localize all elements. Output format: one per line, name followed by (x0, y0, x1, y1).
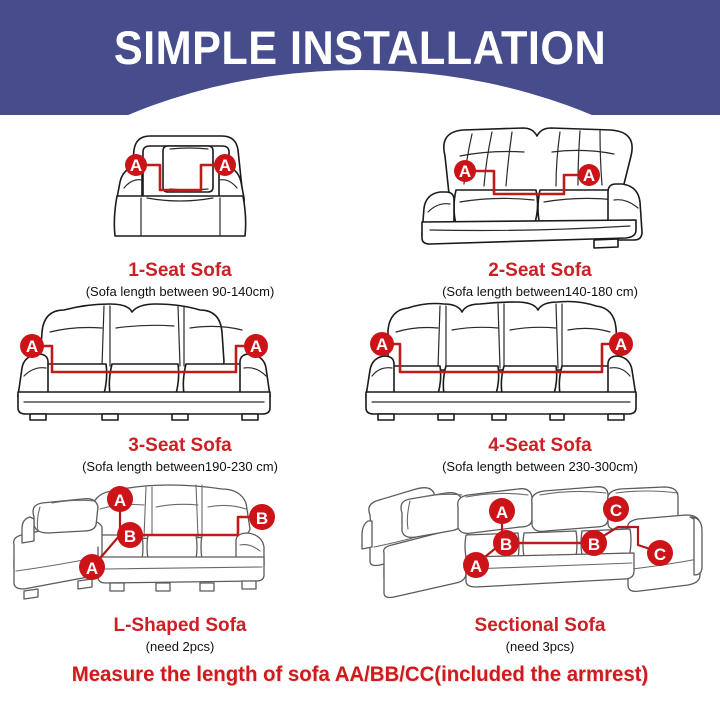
marker-b-left: B (117, 522, 143, 548)
svg-text:A: A (86, 559, 98, 578)
one-seat-sofa-title: 1-Seat Sofa (0, 260, 360, 282)
svg-text:A: A (470, 557, 482, 576)
sectional-sofa-title: Sectional Sofa (360, 615, 720, 637)
marker-c-top: C (603, 496, 629, 522)
header-banner: SIMPLE INSTALLATION (0, 0, 720, 115)
svg-text:A: A (459, 162, 471, 181)
svg-text:B: B (500, 535, 512, 554)
marker-a-bottom: A (463, 552, 489, 578)
l-shaped-sofa-title: L-Shaped Sofa (0, 615, 360, 637)
svg-text:A: A (114, 491, 126, 510)
four-seat-sofa-illustration: A A (360, 298, 720, 433)
sofa-card-two-seat: A A 2-Seat Sofa (Sofa length between140-… (360, 118, 720, 300)
marker-a-left: A (20, 334, 44, 358)
svg-text:A: A (26, 337, 38, 356)
two-seat-sofa-title: 2-Seat Sofa (360, 260, 720, 282)
marker-b-left: B (493, 530, 519, 556)
four-seat-sofa-title: 4-Seat Sofa (360, 435, 720, 457)
banner-curve-decoration (0, 70, 720, 115)
sofa-card-three-seat: A A 3-Seat Sofa (Sofa length between190-… (0, 298, 360, 475)
sofa-card-l-shaped: A A B B L-Shaped Sofa (0, 473, 360, 655)
svg-text:A: A (615, 335, 627, 354)
marker-a-left: A (370, 332, 394, 356)
footer-measure-note: Measure the length of sofa AA/BB/CC(incl… (11, 662, 709, 688)
marker-b-right: B (249, 504, 275, 530)
svg-text:A: A (583, 166, 595, 185)
sofa-card-one-seat: A A 1-Seat Sofa (Sofa length between 90-… (0, 118, 360, 300)
marker-a-right: A (244, 334, 268, 358)
svg-text:A: A (496, 503, 508, 522)
three-seat-sofa-title: 3-Seat Sofa (0, 435, 360, 457)
svg-text:B: B (124, 527, 136, 546)
one-seat-sofa-illustration: A A (0, 118, 360, 258)
svg-text:A: A (250, 337, 262, 356)
marker-c-bottom: C (647, 540, 673, 566)
svg-text:A: A (130, 156, 142, 175)
sofa-card-four-seat: A A 4-Seat Sofa (Sofa length between 230… (360, 298, 720, 475)
marker-a-top: A (107, 486, 133, 512)
sectional-sofa-subtitle: (need 3pcs) (360, 639, 720, 655)
three-seat-sofa-illustration: A A (0, 298, 360, 433)
svg-text:B: B (588, 535, 600, 554)
svg-text:B: B (256, 509, 268, 528)
marker-a-left: A (454, 160, 476, 182)
svg-text:A: A (219, 156, 231, 175)
svg-text:C: C (654, 545, 666, 564)
svg-text:A: A (376, 335, 388, 354)
two-seat-sofa-illustration: A A (360, 118, 720, 258)
marker-a-right: A (214, 154, 236, 176)
marker-a-top: A (489, 498, 515, 524)
sofa-card-sectional: A A B B C (360, 473, 720, 655)
page-title: SIMPLE INSTALLATION (29, 22, 691, 74)
sectional-sofa-illustration: A A B B C (360, 473, 720, 613)
marker-a-right: A (609, 332, 633, 356)
installation-guide-page: SIMPLE INSTALLATION (0, 0, 720, 705)
svg-text:C: C (610, 501, 622, 520)
marker-a-bottom: A (79, 554, 105, 580)
marker-a-left: A (125, 154, 147, 176)
marker-a-right: A (578, 164, 600, 186)
marker-b-right: B (581, 530, 607, 556)
l-shaped-sofa-subtitle: (need 2pcs) (0, 639, 360, 655)
sofa-type-grid: A A 1-Seat Sofa (Sofa length between 90-… (0, 118, 720, 658)
l-shaped-sofa-illustration: A A B B (0, 473, 360, 613)
